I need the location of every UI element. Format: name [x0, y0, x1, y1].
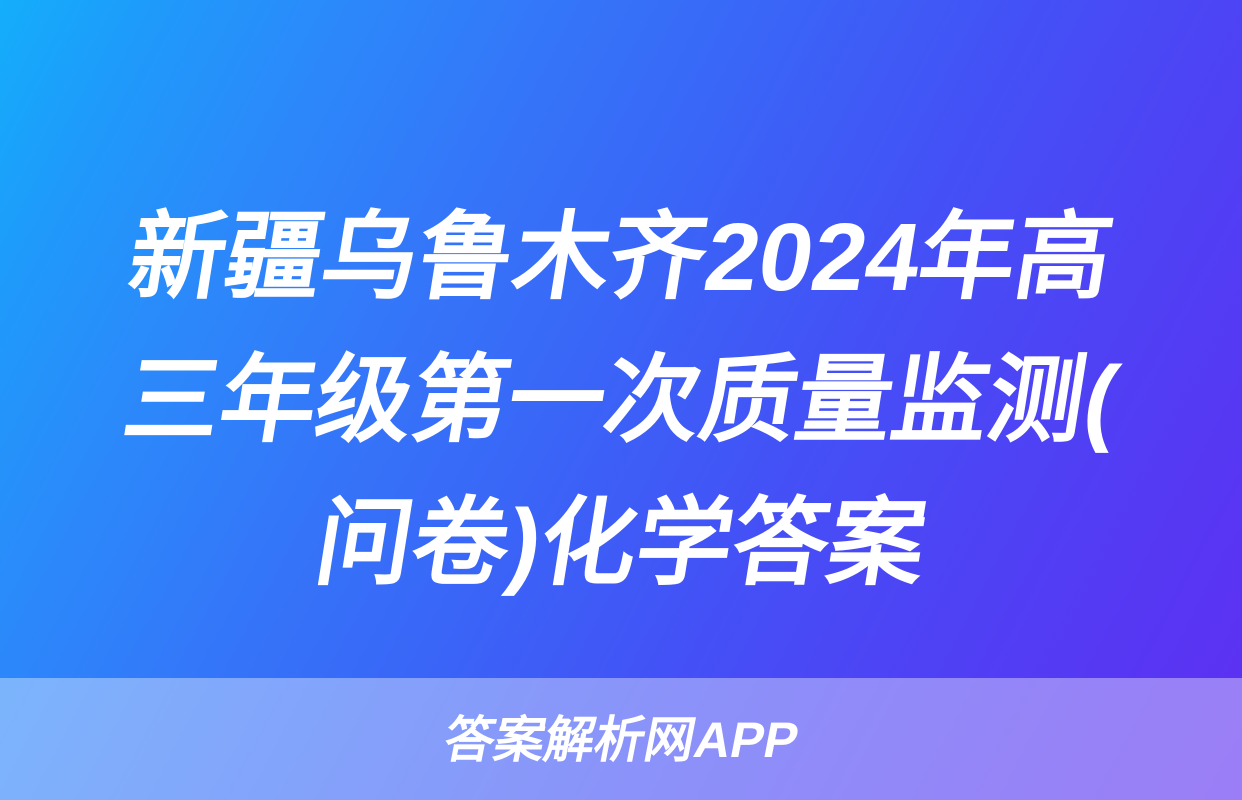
answer-card: 新疆乌鲁木齐2024年高 三年级第一次质量监测( 问卷)化学答案 答案解析网AP…: [0, 0, 1242, 800]
watermark-band: 答案解析网APP: [0, 678, 1242, 800]
title-line-2: 三年级第一次质量监测(: [81, 329, 1162, 472]
title-line-1: 新疆乌鲁木齐2024年高: [81, 186, 1162, 329]
watermark-brand-label: 答案解析网APP: [440, 715, 803, 765]
page-title: 新疆乌鲁木齐2024年高 三年级第一次质量监测( 问卷)化学答案: [0, 186, 1242, 615]
title-line-3: 问卷)化学答案: [81, 472, 1162, 615]
